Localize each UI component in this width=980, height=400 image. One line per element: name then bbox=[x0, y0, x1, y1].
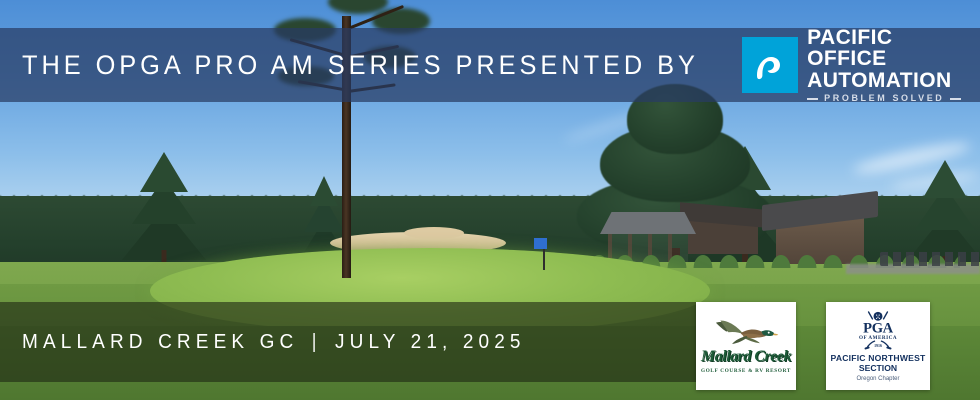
separator: | bbox=[309, 331, 325, 353]
dash-left-icon bbox=[807, 98, 818, 100]
poa-p-swoosh-icon bbox=[742, 37, 798, 93]
pga-crest-icon: PGA OF AMERICA 1916 bbox=[848, 310, 908, 350]
headline-bar: THE OPGA PRO AM SERIES PRESENTED BY PACI… bbox=[0, 28, 980, 102]
conifer-tree bbox=[118, 152, 210, 268]
poa-wordmark: PACIFIC OFFICE AUTOMATION PROBLEM SOLVED bbox=[807, 27, 968, 103]
flying-mallard-duck-icon bbox=[713, 318, 779, 348]
event-date: JULY 21, 2025 bbox=[335, 331, 526, 353]
dash-right-icon bbox=[950, 98, 961, 100]
section-logo-pga-pnw: PGA OF AMERICA 1916 PACIFIC NORTHWEST SE… bbox=[826, 302, 930, 390]
blue-flag-icon bbox=[534, 238, 547, 249]
course-logo-mallard-creek: Mallard Creek GOLF COURSE & RV RESORT bbox=[696, 302, 796, 390]
svg-text:1916: 1916 bbox=[874, 343, 882, 348]
course-logo-title: Mallard Creek bbox=[701, 349, 791, 365]
svg-text:OF AMERICA: OF AMERICA bbox=[859, 335, 897, 341]
event-details-bar: MALLARD CREEK GC | JULY 21, 2025 bbox=[0, 302, 696, 382]
event-details-text: MALLARD CREEK GC | JULY 21, 2025 bbox=[22, 331, 526, 354]
poa-line-1: PACIFIC OFFICE bbox=[807, 27, 968, 69]
course-logo-subtitle: GOLF COURSE & RV RESORT bbox=[701, 368, 791, 374]
golf-cart-row bbox=[880, 252, 980, 266]
section-logo-line-2: SECTION bbox=[859, 364, 897, 374]
section-logo-line-3: Oregon Chapter bbox=[856, 376, 899, 382]
poa-line-2: AUTOMATION bbox=[807, 70, 968, 91]
venue-name: MALLARD CREEK GC bbox=[22, 331, 298, 353]
sponsor-logo-pacific-office-automation: PACIFIC OFFICE AUTOMATION PROBLEM SOLVED bbox=[742, 27, 968, 103]
poa-tagline: PROBLEM SOLVED bbox=[807, 94, 968, 103]
event-banner: THE OPGA PRO AM SERIES PRESENTED BY PACI… bbox=[0, 0, 980, 400]
page-title: THE OPGA PRO AM SERIES PRESENTED BY bbox=[22, 50, 699, 81]
poa-tagline-text: PROBLEM SOLVED bbox=[824, 94, 944, 103]
